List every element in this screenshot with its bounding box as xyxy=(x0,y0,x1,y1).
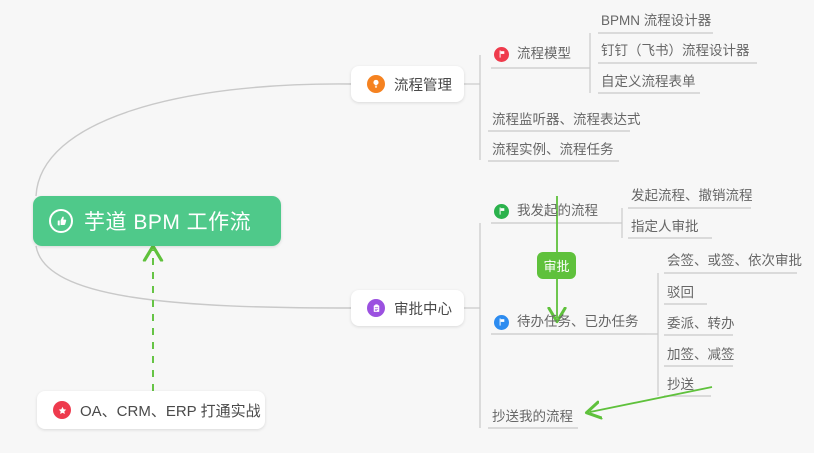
clipboard-icon xyxy=(367,299,385,317)
flag-icon xyxy=(494,47,509,62)
branch-node-flow-management[interactable]: 流程管理 xyxy=(351,66,464,102)
root-node[interactable]: 芋道 BPM 工作流 xyxy=(33,196,281,246)
leaf-delegate-transfer[interactable]: 委派、转办 xyxy=(667,316,735,332)
edge-root-to-approval-center xyxy=(36,246,351,308)
leaf-reject[interactable]: 驳回 xyxy=(667,285,694,301)
leaf-assignee-approve[interactable]: 指定人审批 xyxy=(631,219,699,235)
edge-root-to-flow-management xyxy=(36,84,351,196)
branch-label-approval-center: 审批中心 xyxy=(394,298,452,319)
lightbulb-icon xyxy=(367,75,385,93)
leaf-bpmn-designer[interactable]: BPMN 流程设计器 xyxy=(601,13,711,29)
leaf-flow-listener[interactable]: 流程监听器、流程表达式 xyxy=(492,112,641,128)
leaf-label-flow-model: 流程模型 xyxy=(517,46,571,62)
thumbs-up-icon xyxy=(49,209,73,233)
flag-icon xyxy=(494,315,509,330)
annotation-badge-approve: 审批 xyxy=(537,252,576,279)
leaf-custom-form[interactable]: 自定义流程表单 xyxy=(601,74,696,90)
star-icon xyxy=(53,401,71,419)
root-label: 芋道 BPM 工作流 xyxy=(84,206,251,236)
floating-node-oa-crm-erp[interactable]: OA、CRM、ERP 打通实战 xyxy=(37,391,265,429)
leaf-dingtalk-designer[interactable]: 钉钉（飞书）流程设计器 xyxy=(601,43,750,59)
leaf-countersign[interactable]: 会签、或签、依次审批 xyxy=(667,253,802,269)
leaf-flow-instance[interactable]: 流程实例、流程任务 xyxy=(492,142,614,158)
leaf-my-started-flows[interactable]: 我发起的流程 xyxy=(494,203,598,219)
flag-icon xyxy=(494,204,509,219)
branch-node-approval-center[interactable]: 审批中心 xyxy=(351,290,464,326)
leaf-add-remove-sign[interactable]: 加签、减签 xyxy=(667,347,735,363)
leaf-label-todo-done-tasks: 待办任务、已办任务 xyxy=(517,314,639,330)
floating-node-label: OA、CRM、ERP 打通实战 xyxy=(80,400,261,421)
leaf-cc-to-me-flows[interactable]: 抄送我的流程 xyxy=(492,409,573,425)
branch-label-flow-management: 流程管理 xyxy=(394,74,452,95)
leaf-todo-done-tasks[interactable]: 待办任务、已办任务 xyxy=(494,314,639,330)
leaf-carbon-copy[interactable]: 抄送 xyxy=(667,377,694,393)
leaf-label-my-started-flows: 我发起的流程 xyxy=(517,203,598,219)
mindmap-canvas: 芋道 BPM 工作流 流程管理 流程模型 BPMN 流程设计器 钉钉（飞书）流程… xyxy=(0,0,814,453)
leaf-flow-model[interactable]: 流程模型 xyxy=(494,46,571,62)
leaf-start-cancel-flow[interactable]: 发起流程、撤销流程 xyxy=(631,188,753,204)
